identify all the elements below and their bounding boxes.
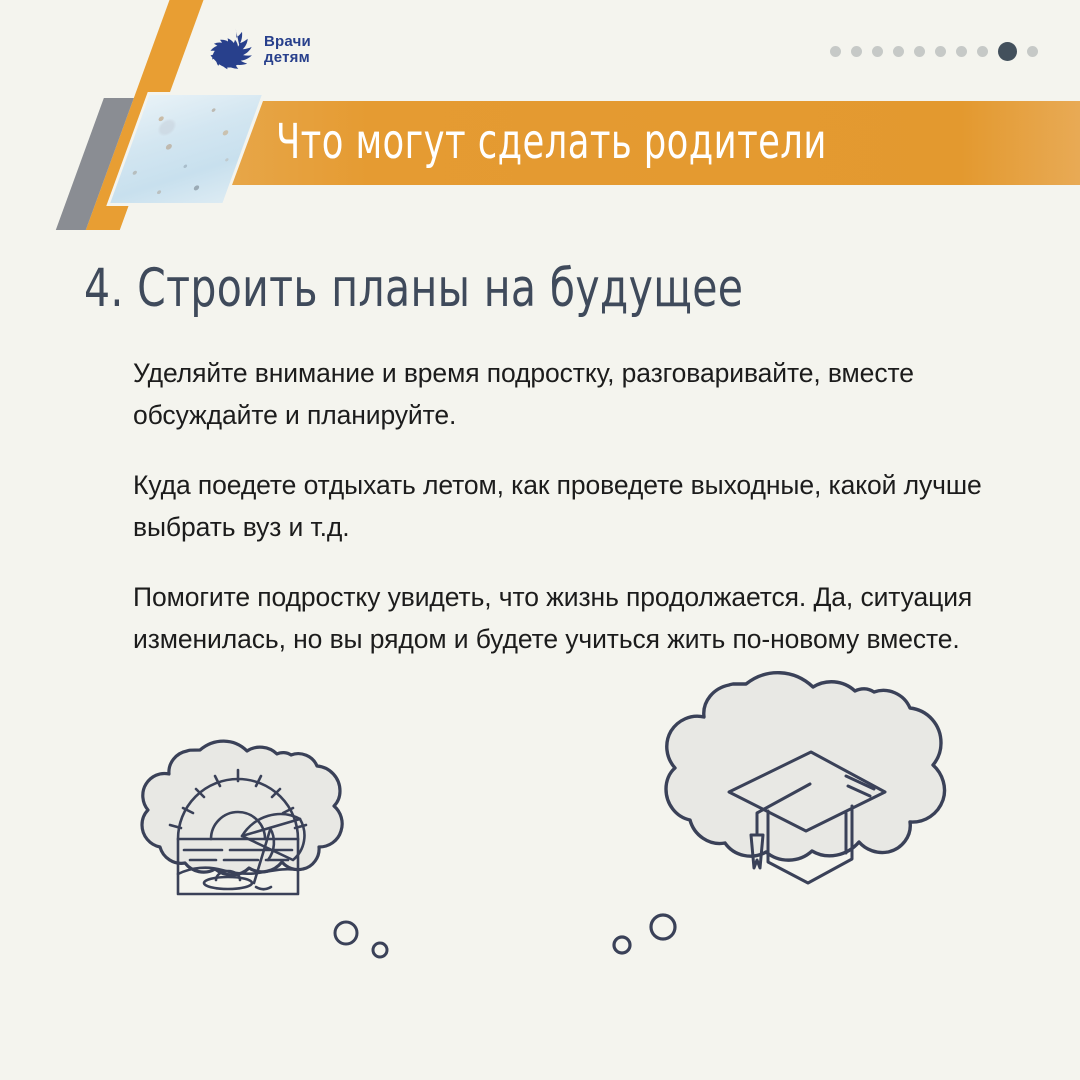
header-band: Что могут сделать родители — [0, 0, 1080, 230]
logo-line-2: детям — [264, 49, 310, 66]
pager-dot-6[interactable] — [935, 46, 946, 57]
paragraph-2: Куда поедете отдыхать летом, как проведе… — [133, 464, 989, 548]
pager-dot-9-active[interactable] — [998, 42, 1017, 61]
pagination-dots[interactable] — [830, 40, 1038, 62]
pager-dot-8[interactable] — [977, 46, 988, 57]
logo-wordmark: Врачи детям — [264, 34, 311, 66]
body-copy: Уделяйте внимание и время подростку, раз… — [133, 352, 989, 660]
pager-dot-1[interactable] — [830, 46, 841, 57]
thought-bubble-graduation — [596, 666, 1000, 970]
logo-line-1: Врачи — [264, 33, 311, 50]
paragraph-1: Уделяйте внимание и время подростку, раз… — [133, 352, 989, 436]
pager-dot-2[interactable] — [851, 46, 862, 57]
thought-bubble-beach — [108, 718, 408, 970]
page-title: Что могут сделать родители — [276, 112, 932, 172]
pager-dot-4[interactable] — [893, 46, 904, 57]
brand-logo[interactable]: Врачи детям — [205, 24, 335, 76]
pager-dot-10[interactable] — [1027, 46, 1038, 57]
section-heading: 4. Строить планы на будущее — [84, 258, 743, 319]
pager-dot-3[interactable] — [872, 46, 883, 57]
pager-dot-5[interactable] — [914, 46, 925, 57]
bird-hand-logo-mark-icon — [205, 27, 257, 73]
pager-dot-7[interactable] — [956, 46, 967, 57]
paragraph-3: Помогите подростку увидеть, что жизнь пр… — [133, 576, 989, 660]
